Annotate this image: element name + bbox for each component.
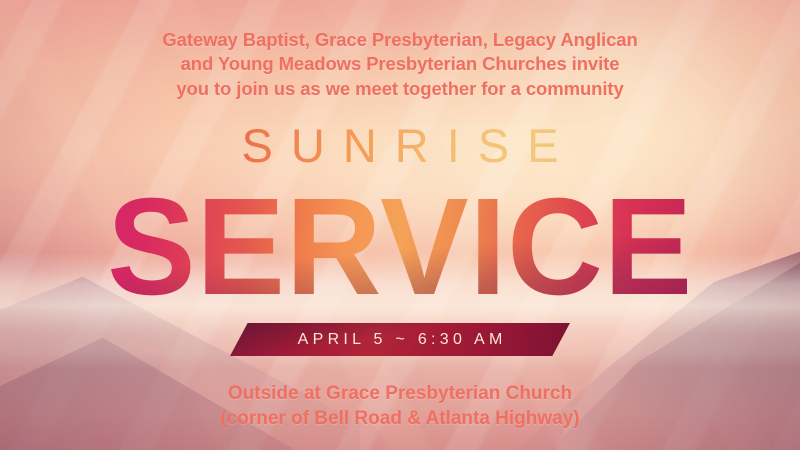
- location-line-1: Outside at Grace Presbyterian Church: [0, 381, 800, 406]
- poster-content: Gateway Baptist, Grace Presbyterian, Leg…: [0, 0, 800, 450]
- invitation-line-3: you to join us as we meet together for a…: [0, 77, 800, 101]
- location-line-2: (corner of Bell Road & Atlanta Highway): [0, 406, 800, 431]
- date-time-banner: APRIL 5 ~ 6:30 AM: [230, 323, 570, 356]
- location-block: Outside at Grace Presbyterian Church (co…: [0, 381, 800, 432]
- title-service: SERVICE: [107, 178, 693, 316]
- invitation-paragraph: Gateway Baptist, Grace Presbyterian, Leg…: [0, 28, 800, 101]
- invitation-line-1: Gateway Baptist, Grace Presbyterian, Leg…: [0, 28, 800, 52]
- title-service-wrapper: SERVICE: [0, 178, 800, 316]
- date-time-text: APRIL 5 ~ 6:30 AM: [293, 331, 506, 349]
- invitation-line-2: and Young Meadows Presbyterian Churches …: [0, 52, 800, 76]
- sunrise-service-poster: Gateway Baptist, Grace Presbyterian, Leg…: [0, 0, 800, 450]
- title-sunrise: SUNRISE: [0, 122, 800, 169]
